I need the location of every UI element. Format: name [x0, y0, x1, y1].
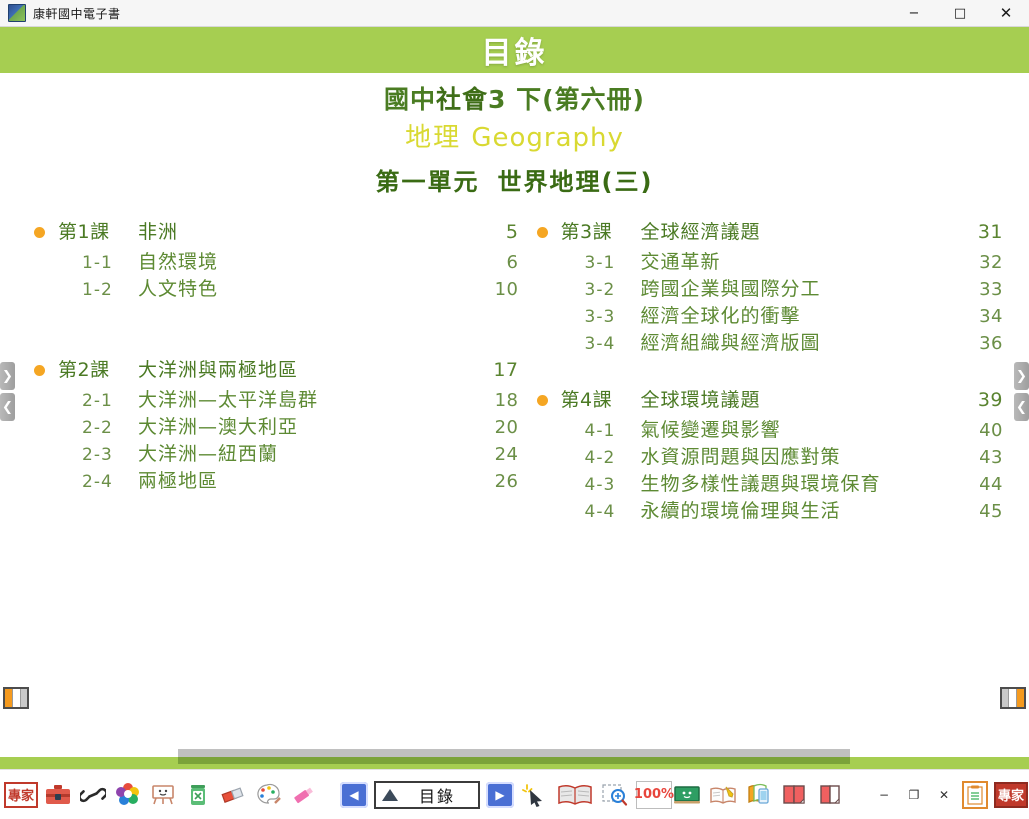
subsection-number: 4-4 [561, 504, 631, 521]
subsection-number: 2-3 [58, 447, 128, 464]
subsection-title: 水資源問題與因應對策 [631, 448, 960, 467]
toc-lesson-row[interactable]: 第2課 大洋洲與兩極地區 17 [34, 361, 519, 380]
subsection-page: 43 [959, 449, 1003, 467]
lesson-number: 第1課 [58, 223, 128, 242]
chevron-left-icon[interactable]: ❮ [0, 393, 15, 421]
bullet-icon [34, 365, 58, 376]
subsection-title: 大洋洲—太平洋島群 [128, 391, 475, 410]
subsection-page: 24 [475, 446, 519, 464]
toc-subsection-row[interactable]: 1-1 自然環境 6 [34, 253, 519, 272]
subsection-number: 3-2 [561, 282, 631, 299]
zoom-select-icon[interactable] [600, 779, 630, 811]
book-title-block: 國中社會3 下(第六冊) 地理 Geography 第一單元世界地理(三) [0, 73, 1029, 197]
subsection-title: 人文特色 [128, 280, 475, 299]
toc-subsection-row[interactable]: 2-3 大洋洲—紐西蘭 24 [34, 445, 519, 464]
subsection-title: 生物多樣性議題與環境保育 [631, 475, 960, 494]
toc-lesson-row[interactable]: 第1課 非洲 5 [34, 223, 519, 242]
bottom-toolbar: 專家 [0, 769, 1029, 819]
book-title-subject: 社會 [436, 85, 488, 114]
book-title-suffix: 3 下(第六冊) [488, 85, 645, 114]
subsection-number: 3-3 [561, 309, 631, 326]
book-tablet-icon[interactable] [744, 779, 774, 811]
page-layout-right-icon[interactable] [1000, 687, 1026, 709]
subject-en: Geography [471, 123, 624, 153]
single-page-view-icon[interactable] [816, 779, 846, 811]
left-side-nav-tabs: ❯ ❮ [0, 362, 15, 421]
expert-button-left[interactable]: 專家 [4, 782, 38, 808]
chevron-left-icon[interactable]: ❮ [1014, 393, 1029, 421]
subsection-number: 4-1 [561, 423, 631, 440]
subsection-title: 經濟組織與經濟版圖 [631, 334, 960, 353]
subsection-page: 10 [475, 281, 519, 299]
subsection-title: 自然環境 [128, 253, 475, 272]
subsection-number: 1-2 [58, 282, 128, 299]
app-close-button[interactable]: ✕ [932, 782, 956, 808]
page-selector-value: 目錄 [406, 783, 468, 807]
sparkle-cursor-icon[interactable] [520, 779, 550, 811]
lesson-title: 全球環境議題 [631, 391, 960, 410]
triangle-up-icon[interactable] [382, 789, 398, 801]
subsection-number: 2-1 [58, 393, 128, 410]
toc-column-left: 第1課 非洲 5 1-1 自然環境 6 1-2 人文特色 10 第2課 大洋洲與 [34, 223, 519, 529]
toc-subsection-row[interactable]: 3-4 經濟組織與經濟版圖 36 [537, 334, 1004, 353]
lesson-title: 大洋洲與兩極地區 [128, 361, 475, 380]
zoom-level-display[interactable]: 100% [636, 781, 672, 809]
toolbar-right-group: − ❐ ✕ 專家 [672, 779, 1028, 811]
unit-line: 第一單元世界地理(三) [0, 162, 1029, 197]
subsection-title: 兩極地區 [128, 472, 475, 491]
bullet-icon [34, 227, 58, 238]
page-title: 目錄 [482, 28, 548, 72]
lesson-number: 第2課 [58, 361, 128, 380]
subsection-title: 大洋洲—澳大利亞 [128, 418, 475, 437]
lesson-page: 31 [959, 223, 1003, 242]
subsection-page: 34 [959, 308, 1003, 326]
open-book-icon[interactable] [556, 779, 594, 811]
lesson-block: 第2課 大洋洲與兩極地區 17 2-1 大洋洲—太平洋島群 18 2-2 大洋洲… [34, 361, 519, 491]
toc-subsection-row[interactable]: 2-1 大洋洲—太平洋島群 18 [34, 391, 519, 410]
app-minimize-button[interactable]: − [872, 782, 896, 808]
subsection-page: 6 [475, 254, 519, 272]
bullet-icon [537, 227, 561, 238]
subsection-page: 36 [959, 335, 1003, 353]
unit-title: 世界地理(三) [498, 168, 654, 196]
toolbox-icon[interactable] [43, 779, 73, 811]
highlighter-pen-icon[interactable] [288, 779, 318, 811]
subsection-number: 3-4 [561, 336, 631, 353]
book-title-prefix: 國中 [384, 85, 436, 114]
subsection-page: 32 [959, 254, 1003, 272]
table-of-contents: 第1課 非洲 5 1-1 自然環境 6 1-2 人文特色 10 第2課 大洋洲與 [0, 223, 1029, 529]
bottom-green-strip [0, 757, 1029, 769]
toc-column-right: 第3課 全球經濟議題 31 3-1 交通革新 32 3-2 跨國企業與國際分工 … [519, 223, 1004, 529]
subsection-number: 4-3 [561, 477, 631, 494]
lesson-page: 17 [475, 361, 519, 380]
subsection-number: 2-4 [58, 474, 128, 491]
toc-lesson-row[interactable]: 第4課 全球環境議題 39 [537, 391, 1004, 410]
subsection-page: 40 [959, 422, 1003, 440]
toc-subsection-row[interactable]: 1-2 人文特色 10 [34, 280, 519, 299]
app-logo-icon [8, 4, 26, 22]
toc-subsection-row[interactable]: 3-3 經濟全球化的衝擊 34 [537, 307, 1004, 326]
window-maximize-button[interactable]: □ [937, 0, 983, 26]
lesson-number: 第3課 [561, 223, 631, 242]
subsection-page: 33 [959, 281, 1003, 299]
color-wheel-icon[interactable] [113, 779, 143, 811]
subsection-page: 26 [475, 473, 519, 491]
lesson-number: 第4課 [561, 391, 631, 410]
chain-link-icon[interactable] [78, 779, 108, 811]
subsection-title: 交通革新 [631, 253, 960, 272]
chevron-right-icon[interactable]: ❯ [1014, 362, 1029, 390]
window-close-button[interactable]: ✕ [983, 0, 1029, 26]
palette-brush-icon[interactable] [253, 779, 283, 811]
book-pencil-icon[interactable] [708, 779, 738, 811]
subject-line: 地理 Geography [0, 119, 1029, 158]
toolbar-left-group: 專家 [4, 779, 318, 811]
next-page-button[interactable]: ▶ [486, 782, 514, 808]
chalkboard-icon[interactable] [672, 779, 702, 811]
subject-zh: 地理 [405, 123, 461, 153]
unit-number: 第一單元 [376, 168, 480, 196]
window-controls: − □ ✕ [891, 0, 1029, 26]
toc-subsection-row[interactable]: 3-2 跨國企業與國際分工 33 [537, 280, 1004, 299]
page-layout-left-icon[interactable] [3, 687, 29, 709]
lesson-block: 第4課 全球環境議題 39 4-1 氣候變遷與影響 40 4-2 水資源問題與因… [537, 391, 1004, 521]
subsection-page: 20 [475, 419, 519, 437]
toc-subsection-row[interactable]: 4-2 水資源問題與因應對策 43 [537, 448, 1004, 467]
lesson-block: 第1課 非洲 5 1-1 自然環境 6 1-2 人文特色 10 [34, 223, 519, 299]
two-page-view-icon[interactable] [780, 779, 810, 811]
subsection-number: 4-2 [561, 450, 631, 467]
toc-lesson-row[interactable]: 第3課 全球經濟議題 31 [537, 223, 1004, 242]
lesson-page: 5 [475, 223, 519, 242]
subsection-title: 氣候變遷與影響 [631, 421, 960, 440]
toc-subsection-row[interactable]: 4-3 生物多樣性議題與環境保育 44 [537, 475, 1004, 494]
chevron-right-icon[interactable]: ❯ [0, 362, 15, 390]
subsection-title: 跨國企業與國際分工 [631, 280, 960, 299]
subsection-page: 45 [959, 503, 1003, 521]
lesson-title: 非洲 [128, 223, 475, 242]
toc-subsection-row[interactable]: 4-1 氣候變遷與影響 40 [537, 421, 1004, 440]
bullet-icon [537, 395, 561, 406]
subsection-number: 3-1 [561, 255, 631, 272]
window-title: 康軒國中電子書 [33, 5, 121, 22]
window-title-bar: 康軒國中電子書 − □ ✕ [0, 0, 1029, 27]
prev-page-button[interactable]: ◀ [340, 782, 368, 808]
toc-subsection-row[interactable]: 3-1 交通革新 32 [537, 253, 1004, 272]
subsection-page: 18 [475, 392, 519, 410]
eraser-icon[interactable] [218, 779, 248, 811]
toc-subsection-row[interactable]: 4-4 永續的環境倫理與生活 45 [537, 502, 1004, 521]
lesson-block: 第3課 全球經濟議題 31 3-1 交通革新 32 3-2 跨國企業與國際分工 … [537, 223, 1004, 353]
subsection-title: 永續的環境倫理與生活 [631, 502, 960, 521]
lesson-title: 全球經濟議題 [631, 223, 960, 242]
subsection-page: 44 [959, 476, 1003, 494]
lesson-page: 39 [959, 391, 1003, 410]
expert-button-right[interactable]: 專家 [994, 782, 1028, 808]
toolbar-center-group: ◀ 目錄 ▶ [340, 779, 672, 811]
toc-subsection-row[interactable]: 2-4 兩極地區 26 [34, 472, 519, 491]
clipboard-list-icon[interactable] [962, 781, 988, 809]
subsection-title: 經濟全球化的衝擊 [631, 307, 960, 326]
book-title-line: 國中社會3 下(第六冊) [0, 83, 1029, 117]
subsection-number: 2-2 [58, 420, 128, 437]
whiteboard-icon[interactable] [148, 779, 178, 811]
app-restore-button[interactable]: ❐ [902, 782, 926, 808]
subsection-title: 大洋洲—紐西蘭 [128, 445, 475, 464]
page-banner: 目錄 [0, 27, 1029, 73]
window-minimize-button[interactable]: − [891, 0, 937, 26]
trash-can-icon[interactable] [183, 779, 213, 811]
right-side-nav-tabs: ❯ ❮ [1014, 362, 1029, 421]
toc-subsection-row[interactable]: 2-2 大洋洲—澳大利亞 20 [34, 418, 519, 437]
page-selector[interactable]: 目錄 [374, 781, 480, 809]
subsection-number: 1-1 [58, 255, 128, 272]
